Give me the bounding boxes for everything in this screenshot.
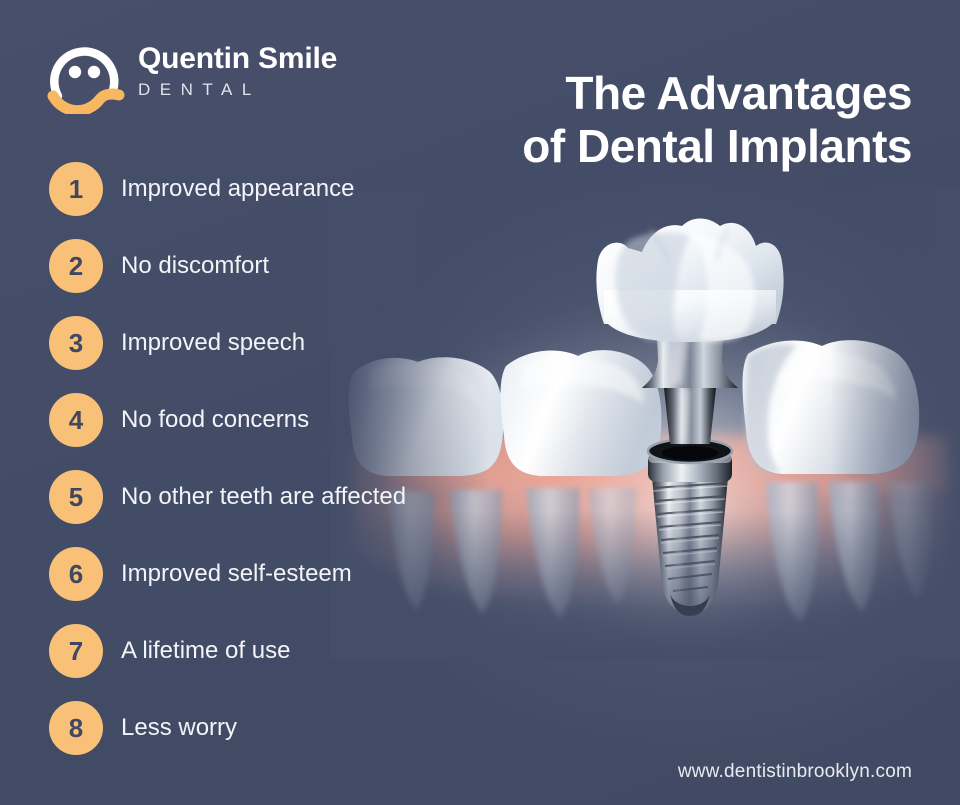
website-url[interactable]: www.dentistinbrooklyn.com bbox=[678, 761, 912, 783]
benefit-number-badge: 2 bbox=[49, 239, 103, 293]
benefits-list: 1 Improved appearance 2 No discomfort 3 … bbox=[49, 162, 479, 778]
benefit-label: Improved self-esteem bbox=[121, 560, 352, 588]
benefit-item-2: 2 No discomfort bbox=[49, 239, 479, 293]
benefit-label: A lifetime of use bbox=[121, 637, 290, 665]
title-line-1: The Advantages bbox=[382, 67, 912, 120]
benefit-item-8: 8 Less worry bbox=[49, 701, 479, 755]
benefit-item-4: 4 No food concerns bbox=[49, 393, 479, 447]
benefit-item-5: 5 No other teeth are affected bbox=[49, 470, 479, 524]
benefit-item-3: 3 Improved speech bbox=[49, 316, 479, 370]
benefit-label: No discomfort bbox=[121, 252, 269, 280]
porcelain-crown bbox=[596, 219, 783, 344]
benefit-number-badge: 7 bbox=[49, 624, 103, 678]
benefit-label: No food concerns bbox=[121, 406, 309, 434]
brand-name: Quentin Smile bbox=[138, 42, 353, 76]
infographic-poster: Quentin Smile DENTAL The Advantages of D… bbox=[0, 0, 960, 805]
benefit-item-7: 7 A lifetime of use bbox=[49, 624, 479, 678]
smile-face-circle-icon bbox=[44, 36, 128, 114]
benefit-item-1: 1 Improved appearance bbox=[49, 162, 479, 216]
benefit-item-6: 6 Improved self-esteem bbox=[49, 547, 479, 601]
benefit-label: No other teeth are affected bbox=[121, 483, 406, 511]
benefit-label: Less worry bbox=[121, 714, 237, 742]
benefit-number-badge: 1 bbox=[49, 162, 103, 216]
benefit-label: Improved speech bbox=[121, 329, 305, 357]
benefit-number-badge: 6 bbox=[49, 547, 103, 601]
benefit-number-badge: 8 bbox=[49, 701, 103, 755]
benefit-label: Improved appearance bbox=[121, 175, 354, 203]
brand-logo[interactable]: Quentin Smile DENTAL bbox=[44, 36, 344, 116]
benefit-number-badge: 5 bbox=[49, 470, 103, 524]
benefit-number-badge: 4 bbox=[49, 393, 103, 447]
benefit-number-badge: 3 bbox=[49, 316, 103, 370]
brand-subtitle: DENTAL bbox=[138, 78, 353, 102]
brand-wordmark: Quentin Smile DENTAL bbox=[138, 42, 353, 102]
page-title: The Advantages of Dental Implants bbox=[382, 67, 912, 173]
